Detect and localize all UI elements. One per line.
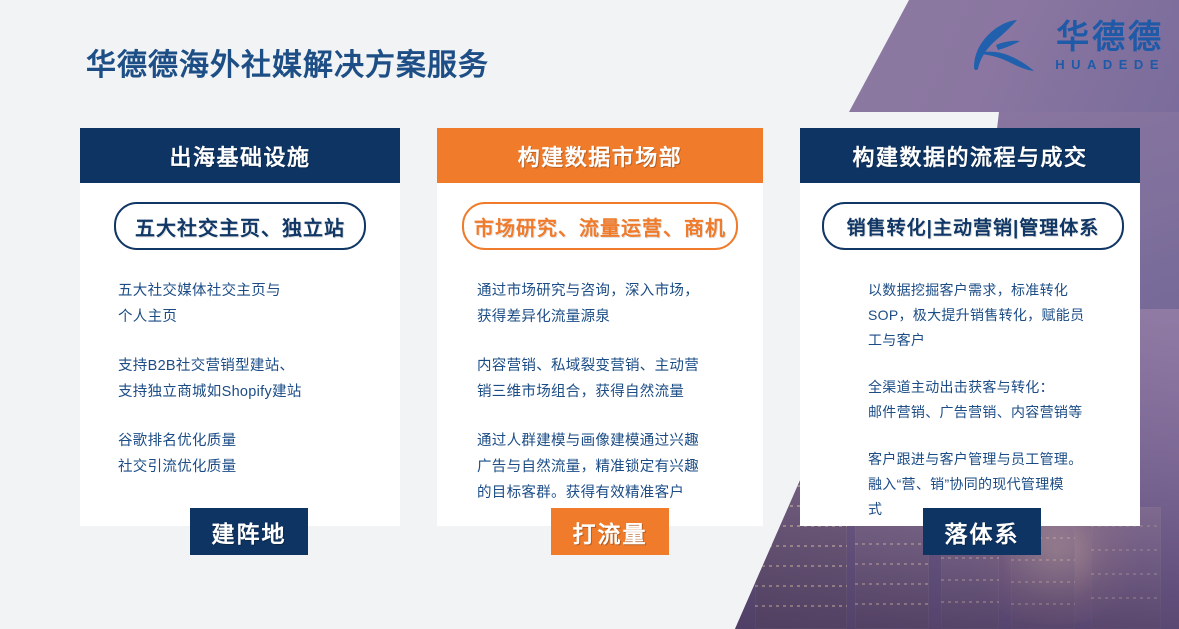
card-3-paragraph-1: 以数据挖掘客户需求，标准转化 SOP，极大提升销售转化，赋能员 工与客户: [868, 278, 1118, 353]
logo-wordmark: 华德德 HUADEDE: [1055, 20, 1165, 71]
card-2-header: 构建数据市场部: [437, 128, 763, 183]
card-1-body: 五大社交主页、独立站 五大社交媒体社交主页与 个人主页 支持B2B社交营销型建站…: [80, 202, 400, 480]
card-3-body: 销售转化|主动营销|管理体系 以数据挖掘客户需求，标准转化 SOP，极大提升销售…: [800, 202, 1140, 522]
card-3-paragraphs: 以数据挖掘客户需求，标准转化 SOP，极大提升销售转化，赋能员 工与客户 全渠道…: [822, 278, 1118, 522]
page-title: 华德德海外社媒解决方案服务: [86, 40, 489, 84]
logo-chinese: 华德德: [1056, 20, 1164, 53]
card-1-header: 出海基础设施: [80, 128, 400, 183]
card-1-paragraph-2: 支持B2B社交营销型建站、 支持独立商城如Shopify建站: [118, 353, 378, 405]
card-1-paragraphs: 五大社交媒体社交主页与 个人主页 支持B2B社交营销型建站、 支持独立商城如Sh…: [102, 278, 378, 480]
card-2-paragraph-3: 通过人群建模与画像建模通过兴趣 广告与自然流量，精准锁定有兴趣 的目标客群。获得…: [477, 428, 741, 506]
card-3-pill: 销售转化|主动营销|管理体系: [822, 202, 1124, 250]
card-1-pill: 五大社交主页、独立站: [114, 202, 366, 250]
card-2-body: 市场研究、流量运营、商机 通过市场研究与咨询，深入市场， 获得差异化流量源泉 内…: [437, 202, 763, 506]
card-3-paragraph-2: 全渠道主动出击获客与转化： 邮件营销、广告营销、内容营销等: [868, 375, 1118, 425]
card-process-conversion[interactable]: 构建数据的流程与成交 销售转化|主动营销|管理体系 以数据挖掘客户需求，标准转化…: [800, 128, 1140, 526]
card-3-header: 构建数据的流程与成交: [800, 128, 1140, 183]
slide-canvas: 华德德海外社媒解决方案服务 华德德 HUADEDE 出海基础设施 五大社交主页、…: [0, 0, 1179, 629]
card-1-paragraph-3: 谷歌排名优化质量 社交引流优化质量: [118, 428, 378, 480]
card-infrastructure[interactable]: 出海基础设施 五大社交主页、独立站 五大社交媒体社交主页与 个人主页 支持B2B…: [80, 128, 400, 526]
card-2-pill: 市场研究、流量运营、商机: [462, 202, 738, 250]
brand-logo: 华德德 HUADEDE: [965, 14, 1165, 76]
card-2-paragraphs: 通过市场研究与咨询，深入市场， 获得差异化流量源泉 内容营销、私域裂变营销、主动…: [459, 278, 741, 506]
badge-drive-traffic[interactable]: 打流量: [551, 508, 669, 555]
badge-build-base[interactable]: 建阵地: [190, 508, 308, 555]
swoosh-bird-mark: [965, 14, 1041, 76]
card-2-paragraph-1: 通过市场研究与咨询，深入市场， 获得差异化流量源泉: [477, 278, 741, 330]
card-data-marketing[interactable]: 构建数据市场部 市场研究、流量运营、商机 通过市场研究与咨询，深入市场， 获得差…: [437, 128, 763, 526]
card-2-paragraph-2: 内容营销、私域裂变营销、主动营 销三维市场组合，获得自然流量: [477, 353, 741, 405]
badge-land-system[interactable]: 落体系: [923, 508, 1041, 555]
logo-english: HUADEDE: [1055, 58, 1165, 71]
card-1-paragraph-1: 五大社交媒体社交主页与 个人主页: [118, 278, 378, 330]
